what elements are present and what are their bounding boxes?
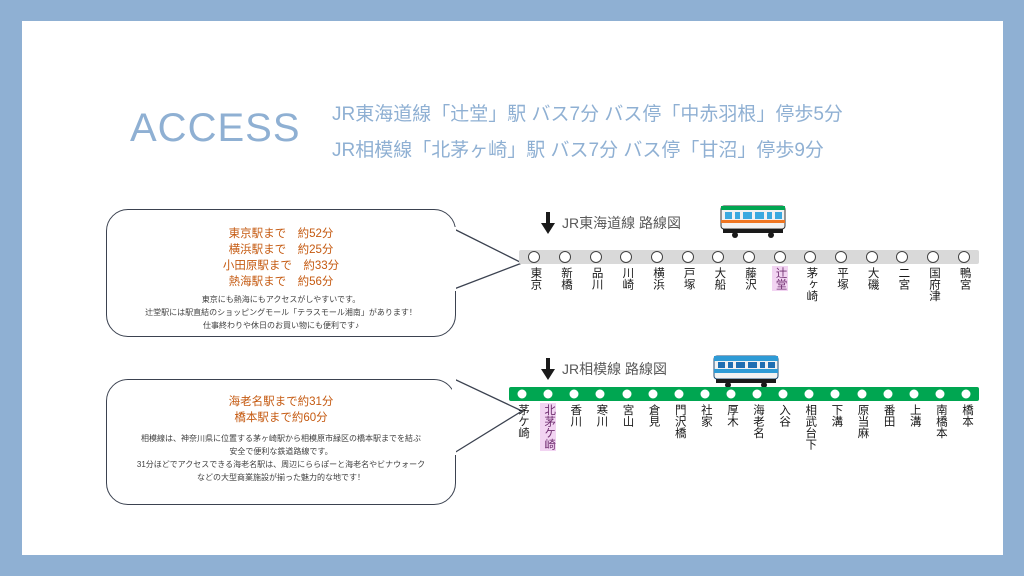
station-marker [682, 251, 694, 263]
arrow-down-icon [541, 212, 555, 234]
train-blue-icon [712, 354, 782, 388]
tokaido-bubble-heading: 東京駅まで 約52分 横浜駅まで 約25分 小田原駅まで 約33分 熱海駅まで … [107, 226, 455, 290]
station-label: 宮山 [619, 403, 635, 428]
station-label: 番田 [880, 403, 896, 428]
station-label: 門沢橋 [671, 403, 687, 440]
station-marker [699, 389, 710, 400]
station-marker [647, 389, 658, 400]
sagami-station-list: 茅ケ崎北茅ケ崎香川寒川宮山倉見門沢橋社家厚木海老名入谷相武台下下溝原当麻番田上溝… [509, 401, 979, 491]
station-label: 新橋 [557, 266, 573, 291]
station-marker [774, 251, 786, 263]
station-label: 社家 [697, 403, 713, 428]
station-marker [778, 389, 789, 400]
tokaido-bubble-body: 東京にも熱海にもアクセスがしやすいです。 辻堂駅には駅直結のショッピングモール「… [107, 293, 455, 332]
station-label: 倉見 [645, 403, 661, 428]
sagami-route-label: JR相模線 路線図 [562, 359, 667, 379]
station-marker [620, 251, 632, 263]
station-label: 橋本 [958, 403, 974, 428]
station-label: 寒川 [592, 403, 608, 428]
station-marker [908, 389, 919, 400]
sagami-bubble-heading: 海老名駅まで約31分 橋本駅まで約60分 [107, 394, 455, 426]
station-label: 平塚 [833, 266, 849, 291]
tokaido-station-list: 東京新橋品川川崎横浜戸塚大船藤沢辻堂茅ヶ崎平塚大磯二宮国府津鴨宮 [519, 264, 979, 354]
page-title: ACCESS [130, 106, 301, 151]
station-label: 戸塚 [680, 266, 696, 291]
station-label-highlighted: 北茅ケ崎 [540, 403, 556, 451]
station-marker [830, 389, 841, 400]
station-label: 藤沢 [741, 266, 757, 291]
tokaido-line-bar [519, 250, 979, 264]
station-label-highlighted: 辻堂 [772, 266, 788, 291]
arrow-down-icon [541, 358, 555, 380]
station-marker [559, 251, 571, 263]
tokaido-line: 東京新橋品川川崎横浜戸塚大船藤沢辻堂茅ヶ崎平塚大磯二宮国府津鴨宮 [519, 250, 979, 354]
station-marker [927, 251, 939, 263]
access-summary: JR東海道線「辻堂」駅 バス7分 バス停「中赤羽根」停歩5分 JR相模線「北茅ヶ… [332, 97, 843, 169]
station-label: 川崎 [618, 266, 634, 291]
station-label: 香川 [566, 403, 582, 428]
station-marker [725, 389, 736, 400]
station-label: 鴨宮 [956, 266, 972, 291]
station-label: 下溝 [827, 403, 843, 428]
station-marker [743, 251, 755, 263]
station-marker [543, 389, 554, 400]
station-marker [866, 251, 878, 263]
station-label: 南橋本 [932, 403, 948, 440]
station-marker [621, 389, 632, 400]
station-label: 原当麻 [854, 403, 870, 440]
station-marker [528, 251, 540, 263]
slide-canvas: ACCESS JR東海道線「辻堂」駅 バス7分 バス停「中赤羽根」停歩5分 JR… [22, 21, 1003, 555]
sagami-line: 茅ケ崎北茅ケ崎香川寒川宮山倉見門沢橋社家厚木海老名入谷相武台下下溝原当麻番田上溝… [509, 387, 979, 491]
station-label: 茅ヶ崎 [802, 266, 818, 303]
station-label: 入谷 [775, 403, 791, 428]
station-label: 大船 [710, 266, 726, 291]
station-label: 横浜 [649, 266, 665, 291]
station-label: 海老名 [749, 403, 765, 440]
station-label: 茅ケ崎 [514, 403, 530, 440]
station-marker [517, 389, 528, 400]
station-marker [934, 389, 945, 400]
station-marker [835, 251, 847, 263]
station-marker [712, 251, 724, 263]
station-marker [958, 251, 970, 263]
station-label: 厚木 [723, 403, 739, 428]
sagami-bubble: 海老名駅まで約31分 橋本駅まで約60分 相模線は、神奈川県に位置する茅ヶ崎駅か… [106, 379, 456, 505]
station-marker [569, 389, 580, 400]
access-summary-line-1: JR東海道線「辻堂」駅 バス7分 バス停「中赤羽根」停歩5分 [332, 97, 843, 133]
station-label: 東京 [526, 266, 542, 291]
tokaido-route-header: JR東海道線 路線図 [541, 212, 681, 234]
station-marker [651, 251, 663, 263]
station-label: 二宮 [894, 266, 910, 291]
station-marker [856, 389, 867, 400]
station-marker [882, 389, 893, 400]
station-marker [752, 389, 763, 400]
station-marker [960, 389, 971, 400]
station-label: 国府津 [925, 266, 941, 303]
station-marker [590, 251, 602, 263]
station-marker [804, 251, 816, 263]
sagami-line-bar [509, 387, 979, 401]
station-marker [804, 389, 815, 400]
station-label: 上溝 [906, 403, 922, 428]
access-summary-line-2: JR相模線「北茅ヶ崎」駅 バス7分 バス停「甘沼」停歩9分 [332, 133, 843, 169]
station-marker [673, 389, 684, 400]
sagami-bubble-body: 相模線は、神奈川県に位置する茅ヶ崎駅から相模原市緑区の橋本駅までを結ぶ 安全で便… [107, 432, 455, 484]
train-green-icon [719, 204, 789, 238]
sagami-route-header: JR相模線 路線図 [541, 358, 667, 380]
station-label: 品川 [588, 266, 604, 291]
tokaido-route-label: JR東海道線 路線図 [562, 213, 681, 233]
station-label: 大磯 [864, 266, 880, 291]
station-label: 相武台下 [801, 403, 817, 451]
station-marker [896, 251, 908, 263]
tokaido-bubble: 東京駅まで 約52分 横浜駅まで 約25分 小田原駅まで 約33分 熱海駅まで … [106, 209, 456, 337]
station-marker [595, 389, 606, 400]
